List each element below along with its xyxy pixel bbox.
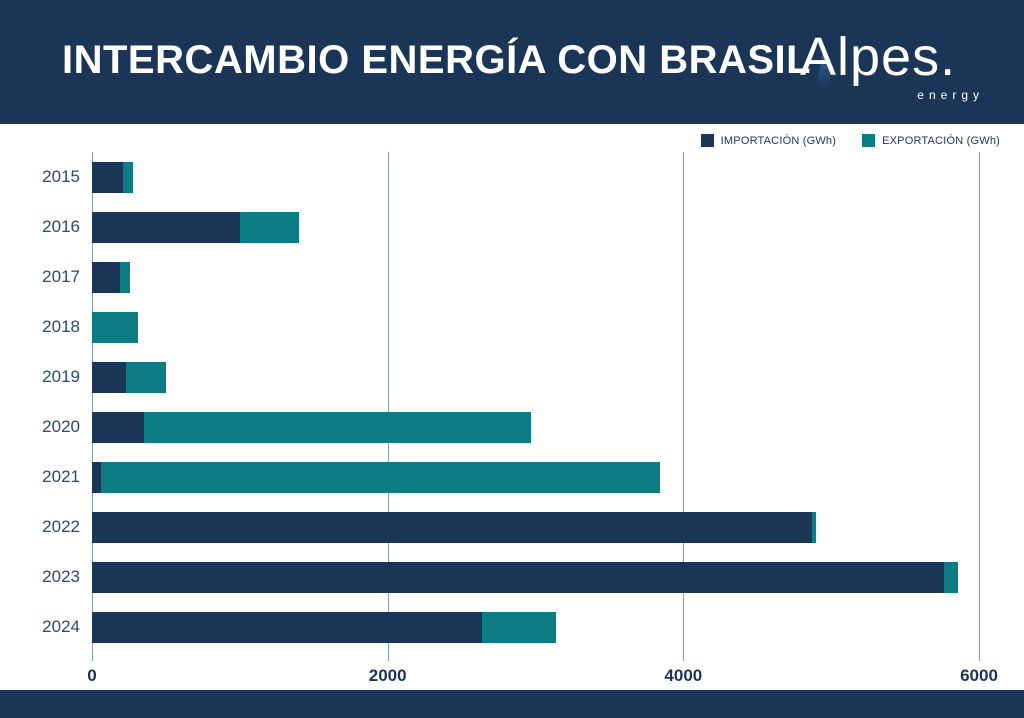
- bar-group-2023[interactable]: [92, 562, 979, 593]
- header-banner: INTERCAMBIO ENERGÍA CON BRASIL Alpes. en…: [0, 0, 1024, 124]
- bar-segment-exportacion-2024[interactable]: [482, 612, 556, 643]
- bar-segment-importacion-2021[interactable]: [92, 462, 101, 493]
- bar-segment-importacion-2015[interactable]: [92, 162, 123, 193]
- legend-swatch-import: [701, 134, 714, 147]
- y-axis-label-2020: 2020: [6, 417, 80, 437]
- x-tick-label: 2000: [369, 666, 407, 686]
- bar-segment-importacion-2017[interactable]: [92, 262, 120, 293]
- footer-band: [0, 690, 1024, 718]
- bar-segment-exportacion-2015[interactable]: [123, 162, 133, 193]
- gridline-6000: [979, 152, 980, 652]
- plot-area: 0200040006000201520162017201820192020202…: [92, 152, 979, 652]
- y-axis-label-2019: 2019: [6, 367, 80, 387]
- bar-group-2020[interactable]: [92, 412, 979, 443]
- legend-swatch-export: [862, 134, 875, 147]
- x-tick-6000: [979, 652, 980, 661]
- x-tick-2000: [388, 652, 389, 661]
- bar-group-2022[interactable]: [92, 512, 979, 543]
- legend-label: EXPORTACIÓN (GWh): [882, 135, 1000, 147]
- page-title: INTERCAMBIO ENERGÍA CON BRASIL: [62, 38, 811, 83]
- alpes-energy-logo: Alpes. energy: [800, 26, 990, 108]
- y-axis-label-2017: 2017: [6, 267, 80, 287]
- bar-group-2021[interactable]: [92, 462, 979, 493]
- logo-tagline: energy: [917, 88, 984, 102]
- bar-segment-exportacion-2018[interactable]: [92, 312, 138, 343]
- y-axis-label-2021: 2021: [6, 467, 80, 487]
- x-tick-label: 4000: [664, 666, 702, 686]
- legend-item-importacion[interactable]: IMPORTACIÓN (GWh): [701, 134, 836, 147]
- x-tick-label: 0: [87, 666, 96, 686]
- chart-container: IMPORTACIÓN (GWh)EXPORTACIÓN (GWh) 02000…: [0, 124, 1024, 690]
- bar-group-2024[interactable]: [92, 612, 979, 643]
- chart-page: INTERCAMBIO ENERGÍA CON BRASIL Alpes. en…: [0, 0, 1024, 718]
- x-tick-4000: [683, 652, 684, 661]
- bar-segment-exportacion-2017[interactable]: [120, 262, 130, 293]
- y-axis-label-2023: 2023: [6, 567, 80, 587]
- bar-group-2018[interactable]: [92, 312, 979, 343]
- y-axis-label-2016: 2016: [6, 217, 80, 237]
- bar-segment-importacion-2019[interactable]: [92, 362, 126, 393]
- x-tick-0: [92, 652, 93, 661]
- bar-segment-exportacion-2016[interactable]: [240, 212, 299, 243]
- y-axis-label-2015: 2015: [6, 167, 80, 187]
- bar-group-2015[interactable]: [92, 162, 979, 193]
- chart-legend: IMPORTACIÓN (GWh)EXPORTACIÓN (GWh): [701, 134, 1000, 147]
- bar-segment-importacion-2024[interactable]: [92, 612, 482, 643]
- bar-segment-importacion-2016[interactable]: [92, 212, 240, 243]
- bar-segment-exportacion-2023[interactable]: [944, 562, 959, 593]
- bar-segment-exportacion-2020[interactable]: [144, 412, 531, 443]
- bar-segment-exportacion-2019[interactable]: [126, 362, 166, 393]
- bar-segment-importacion-2020[interactable]: [92, 412, 144, 443]
- legend-label: IMPORTACIÓN (GWh): [721, 135, 836, 147]
- legend-item-exportacion[interactable]: EXPORTACIÓN (GWh): [862, 134, 1000, 147]
- bar-segment-exportacion-2021[interactable]: [101, 462, 660, 493]
- bar-group-2017[interactable]: [92, 262, 979, 293]
- bar-segment-importacion-2022[interactable]: [92, 512, 812, 543]
- y-axis-label-2022: 2022: [6, 517, 80, 537]
- y-axis-label-2018: 2018: [6, 317, 80, 337]
- x-tick-label: 6000: [960, 666, 998, 686]
- bar-group-2016[interactable]: [92, 212, 979, 243]
- logo-wordmark: Alpes.: [800, 26, 956, 88]
- bar-group-2019[interactable]: [92, 362, 979, 393]
- bar-segment-importacion-2023[interactable]: [92, 562, 944, 593]
- y-axis-label-2024: 2024: [6, 617, 80, 637]
- bar-segment-exportacion-2022[interactable]: [812, 512, 816, 543]
